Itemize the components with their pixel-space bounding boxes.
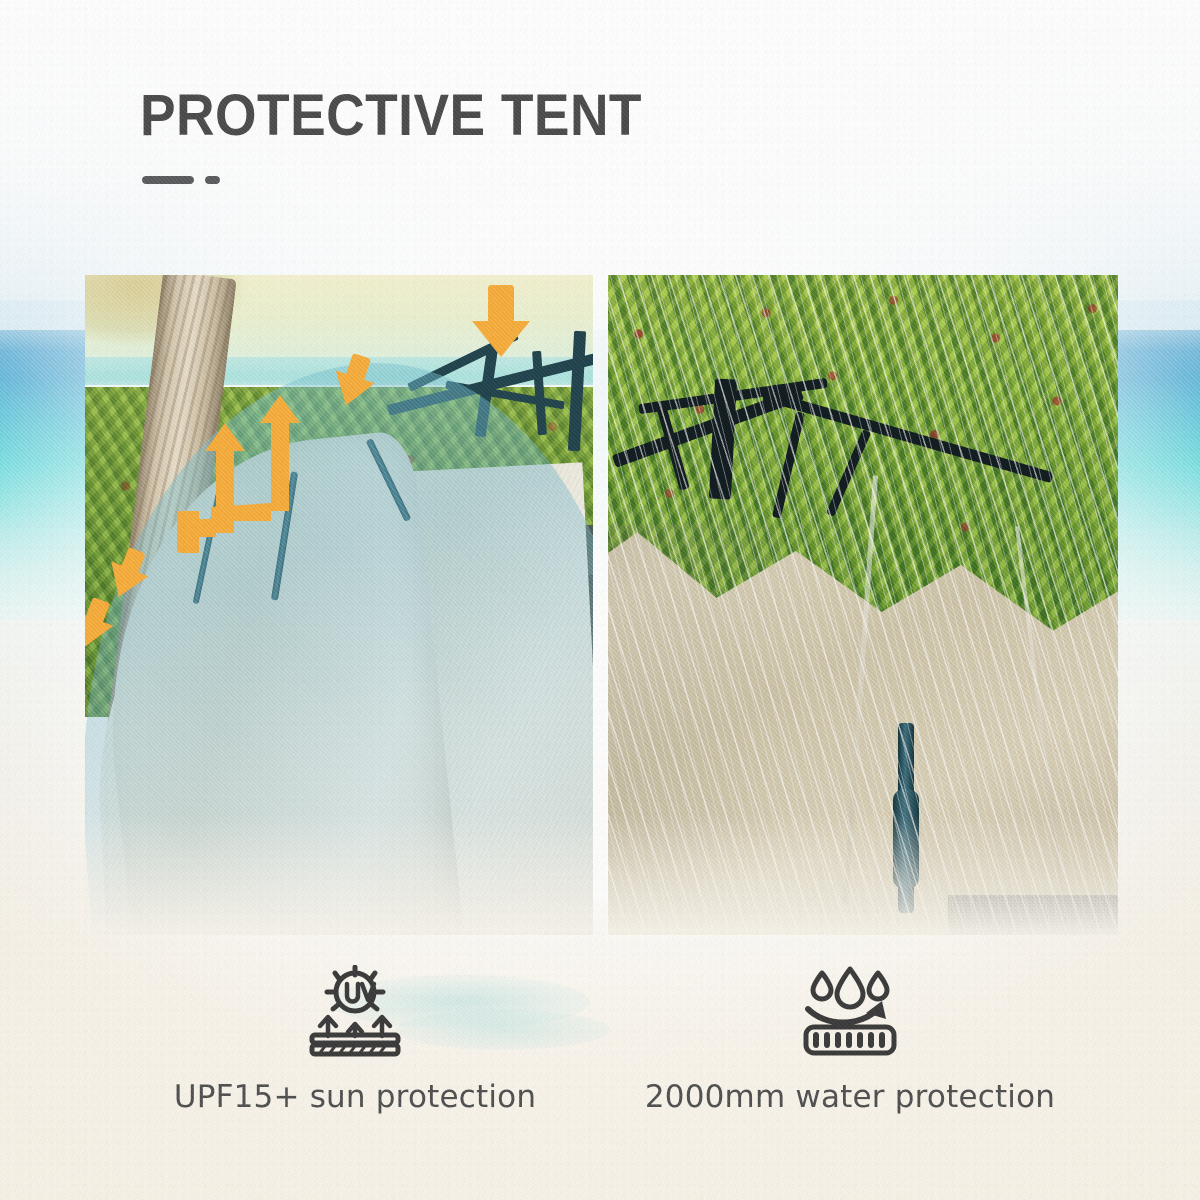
uv-arrow-annotations (85, 275, 593, 935)
infographic-canvas: PROTECTIVE TENT (0, 0, 1200, 1200)
arrow-down-incoming-1 (472, 285, 530, 357)
uv-sun-protection-icon (105, 965, 605, 1057)
water-repellent-droplets-icon (600, 965, 1100, 1057)
page-title: PROTECTIVE TENT (140, 82, 642, 149)
divider-dash-short (205, 176, 220, 184)
water-protection-photo (608, 275, 1118, 935)
feature-water-protection: 2000mm water protection (600, 965, 1100, 1115)
right-photo-scene (608, 275, 1118, 935)
photo-mesh-window (948, 895, 1118, 935)
feature-caption: 2000mm water protection (600, 1079, 1100, 1115)
left-photo-scene (85, 275, 593, 935)
arrow-down-deflected-2 (85, 593, 120, 654)
sun-protection-photo (85, 275, 593, 935)
background-top-fade (0, 0, 1200, 300)
arrow-down-deflected-1 (100, 543, 156, 604)
arrow-stem-connector (177, 511, 195, 553)
feature-caption: UPF15+ sun protection (105, 1079, 605, 1115)
photo-pole-joint (893, 789, 919, 889)
divider-dash-long (142, 176, 194, 184)
photo-canopy-shadow (608, 525, 858, 935)
title-divider (142, 176, 220, 184)
feature-sun-protection: UPF15+ sun protection (105, 965, 605, 1115)
photo-tent-pole (898, 723, 914, 913)
photo-tent-frame (608, 335, 1048, 495)
arrow-down-incoming-2 (326, 350, 381, 412)
